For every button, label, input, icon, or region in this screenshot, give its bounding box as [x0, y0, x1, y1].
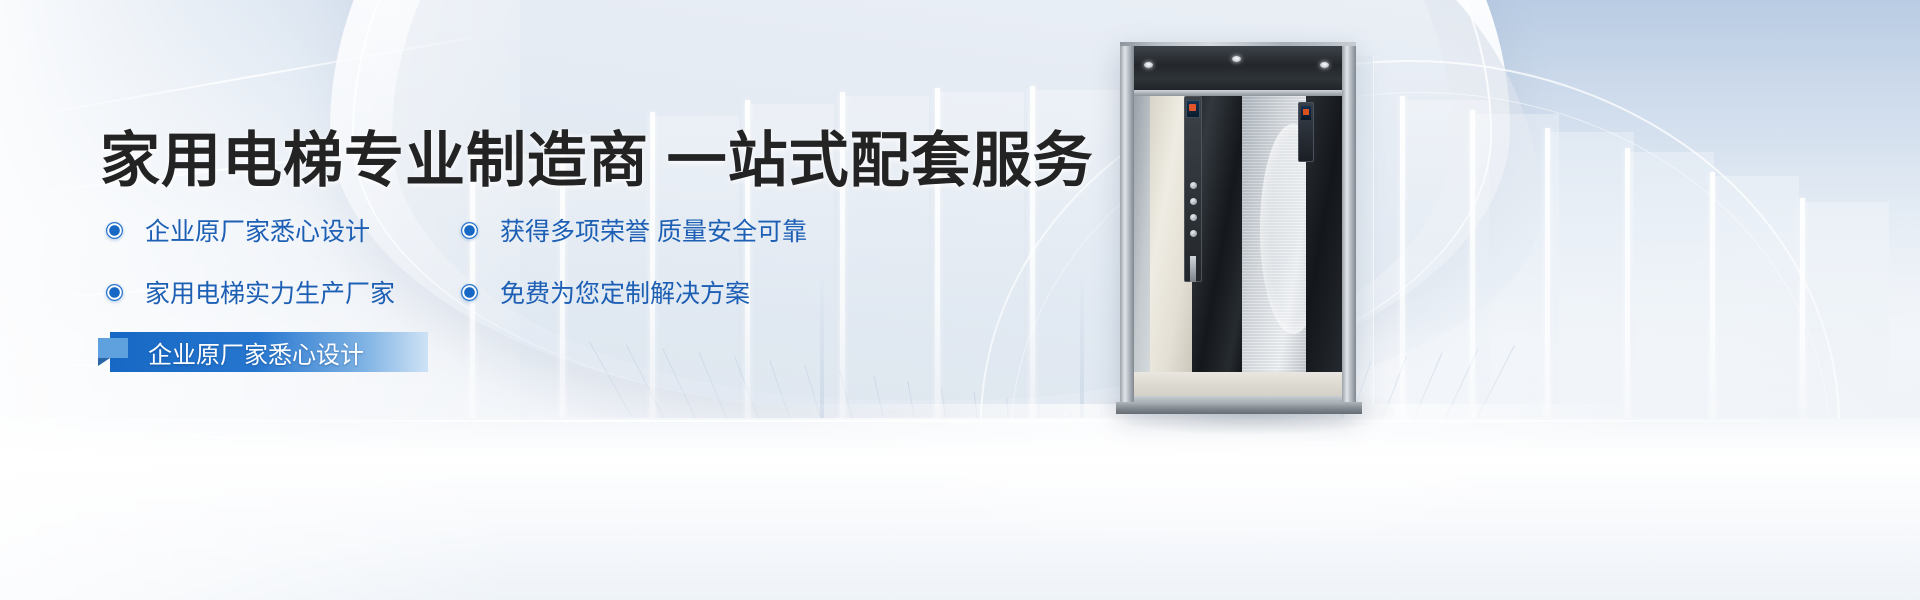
elevator-side-glass	[1356, 56, 1374, 404]
ceiling-light-icon	[1144, 62, 1153, 68]
elevator-frame-post-right	[1342, 46, 1356, 410]
page-title: 家用电梯专业制造商 一站式配套服务	[100, 112, 1094, 199]
floor-button-icon	[1190, 214, 1197, 221]
bullet-dot-icon	[461, 284, 478, 301]
elevator-frame-post-left	[1120, 46, 1134, 410]
elevator-control-panel	[1184, 96, 1202, 282]
window-glass-pane	[1630, 152, 1714, 446]
bullet-dot-icon	[106, 284, 123, 301]
secondary-floor-indicator-icon	[1303, 109, 1309, 115]
floor-button-icon	[1190, 198, 1197, 205]
floor-button-icon	[1190, 230, 1197, 237]
feature-item-1: 企业原厂家悉心设计	[106, 212, 461, 248]
floor-indicator-icon	[1189, 104, 1196, 111]
feature-item-3: 家用电梯实力生产厂家	[106, 274, 461, 310]
feature-item-label: 家用电梯实力生产厂家	[145, 274, 395, 310]
bullet-dot-icon	[461, 222, 478, 239]
control-panel-strip	[1190, 256, 1196, 282]
window-glass-pane	[1715, 176, 1799, 432]
window-glass-pane	[1805, 202, 1889, 416]
ceiling-light-icon	[1320, 62, 1329, 68]
highlight-ribbon[interactable]: 企业原厂家悉心设计	[110, 332, 428, 372]
bullet-dot-icon	[106, 222, 123, 239]
feature-item-label: 免费为您定制解决方案	[500, 274, 750, 310]
ribbon-fold-tab-icon	[98, 338, 128, 358]
feature-item-2: 获得多项荣誉 质量安全可靠	[461, 212, 807, 248]
feature-row: 家用电梯实力生产厂家 免费为您定制解决方案	[106, 274, 986, 310]
promotional-banner: 家用电梯专业制造商 一站式配套服务 企业原厂家悉心设计 获得多项荣誉 质量安全可…	[0, 0, 1920, 600]
home-elevator-cabin-photo	[1120, 42, 1370, 422]
feature-list: 企业原厂家悉心设计 获得多项荣誉 质量安全可靠 家用电梯实力生产厂家 免费为您定…	[106, 212, 986, 336]
feature-item-label: 获得多项荣誉 质量安全可靠	[500, 212, 807, 248]
ceiling-light-icon	[1232, 56, 1241, 62]
floor-button-icon	[1190, 182, 1197, 189]
ribbon-label: 企业原厂家悉心设计	[148, 335, 364, 370]
feature-item-label: 企业原厂家悉心设计	[145, 212, 370, 248]
elevator-base-plinth	[1116, 402, 1362, 414]
feature-item-4: 免费为您定制解决方案	[461, 274, 750, 310]
feature-row: 企业原厂家悉心设计 获得多项荣誉 质量安全可靠	[106, 212, 986, 248]
elevator-ceiling-canopy	[1124, 46, 1352, 94]
